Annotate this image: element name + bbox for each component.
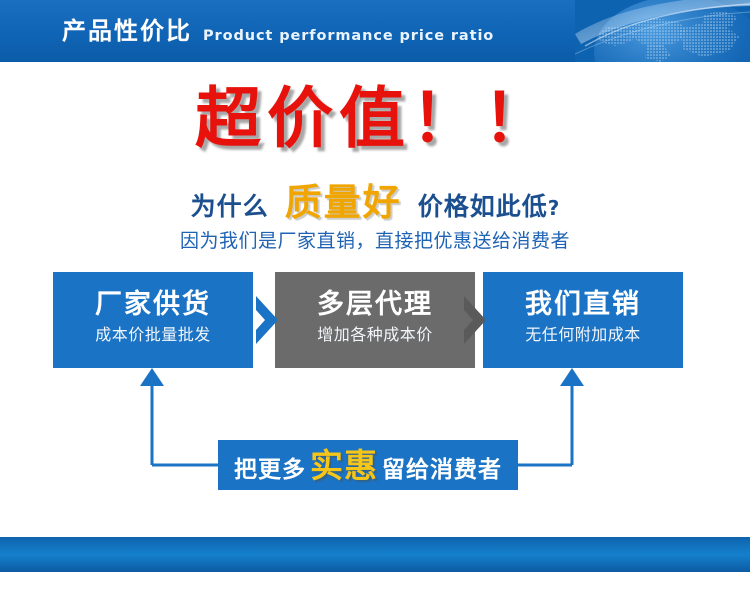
- bottom-banner: 把更多实惠留给消费者: [218, 440, 518, 490]
- question-line: 为什么质量好价格如此低?: [0, 182, 750, 231]
- flow-box-direct-sales: 我们直销 无任何附加成本: [483, 272, 683, 368]
- bottom-banner-highlight: 实惠: [310, 446, 378, 485]
- question-subtitle: 因为我们是厂家直销，直接把优惠送给消费者: [0, 228, 750, 254]
- bottom-banner-suffix: 留给消费者: [382, 457, 502, 483]
- question-mark: ?: [548, 196, 560, 220]
- flow-box-title: 多层代理: [275, 288, 475, 322]
- question-quality: 质量好: [285, 181, 402, 224]
- question-why: 为什么: [191, 192, 269, 221]
- footer-bar: [0, 537, 750, 572]
- flow-box-agents: 多层代理 增加各种成本价: [275, 272, 475, 368]
- bottom-banner-prefix: 把更多: [234, 457, 306, 483]
- question-price: 价格如此低: [418, 192, 548, 221]
- header-title-cn: 产品性价比: [62, 16, 192, 46]
- header-title-en: Product performance price ratio: [203, 27, 494, 45]
- page-headline: 超价值！！: [0, 82, 750, 156]
- chevron-right-icon: [256, 296, 286, 344]
- flow-box-subtitle: 增加各种成本价: [275, 324, 475, 346]
- flow-box-title: 我们直销: [483, 288, 683, 322]
- promo-infographic-page: 产品性价比 Product performance price ratio 超价…: [0, 0, 750, 590]
- flow-box-title: 厂家供货: [53, 288, 253, 322]
- world-globe-icon: [575, 0, 750, 62]
- header-banner: 产品性价比 Product performance price ratio: [0, 0, 750, 62]
- chevron-right-icon: [464, 296, 494, 344]
- bottom-banner-text: 把更多实惠留给消费者: [218, 449, 518, 489]
- flow-box-manufacturer: 厂家供货 成本价批量批发: [53, 272, 253, 368]
- flow-box-subtitle: 无任何附加成本: [483, 324, 683, 346]
- flow-box-subtitle: 成本价批量批发: [53, 324, 253, 346]
